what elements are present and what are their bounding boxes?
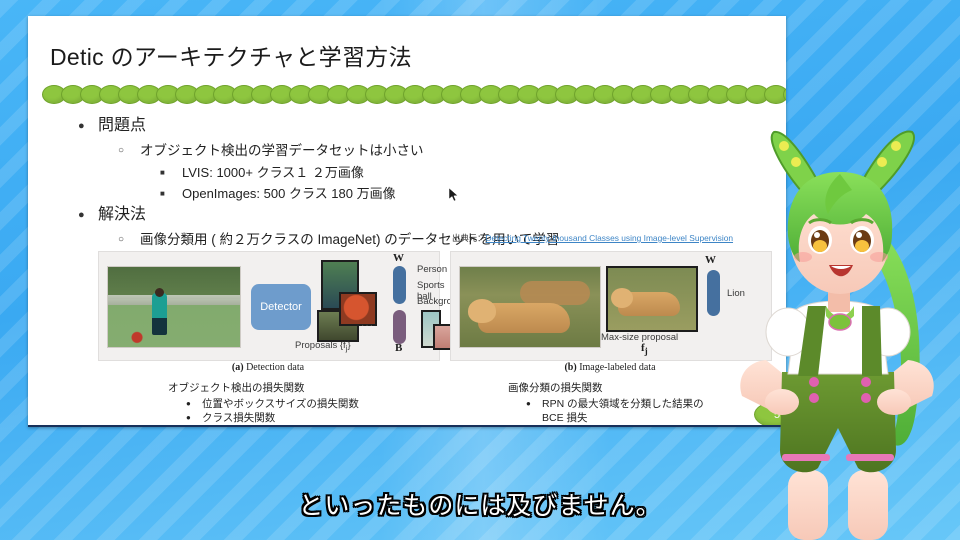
max-size-proposal-label: Max-size proposal (601, 332, 678, 343)
mouse-cursor-icon (449, 188, 459, 202)
loss-notes-detection: オブジェクト検出の損失関数 ● 位置やボックスサイズの損失関数 ● クラス損失関… (168, 381, 359, 427)
fj-subscript: j (645, 346, 648, 356)
character-button-right (861, 377, 871, 387)
figure-panel-image-labeled-data: Detector Max-size proposal fj W Lion (450, 251, 772, 361)
photo-player-body (152, 293, 167, 335)
character-shorts-trim-right (846, 454, 894, 461)
loss-notes-classification: 画像分類の損失関数 ● RPN の最大領域を分類した結果の BCE 損失 (508, 381, 710, 425)
bullet-item-problem: ● 問題点 (78, 116, 768, 136)
bullet-marker: ■ (160, 184, 182, 203)
vtuber-character-avatar (730, 110, 960, 540)
source-link[interactable]: Detecting Twenty-thousand Classes using … (486, 233, 734, 243)
character-button-left-2 (809, 393, 819, 403)
bullet-marker: ● (526, 397, 542, 425)
photo-fence-band (108, 295, 240, 305)
bullet-marker: ● (186, 411, 202, 425)
character-button-left (809, 377, 819, 387)
source-citation: 出典元：Detecting Twenty-thousand Classes us… (452, 232, 733, 244)
figure-caption-a-label: (a) (232, 362, 244, 373)
bullet-item-solution: ● 解決法 (78, 205, 768, 225)
character-blush-right (870, 252, 888, 262)
bullet-item-lvis: ■ LVIS: 1000+ クラス１ ２万画像 (160, 163, 768, 182)
bullet-marker: ■ (160, 163, 182, 182)
loss-item: ● 位置やボックスサイズの損失関数 (186, 397, 359, 411)
class-label-person: Person (417, 264, 447, 275)
weight-vector-w (393, 266, 406, 304)
character-hand-right (877, 389, 911, 415)
character-eye-left-glint (814, 232, 820, 238)
bullet-text: LVIS: 1000+ クラス１ ２万画像 (182, 163, 364, 182)
character-hand-left (765, 389, 799, 415)
crop-lion-head (611, 288, 633, 308)
bullet-marker: ● (186, 397, 202, 411)
ellipsis-dots: ··· (361, 320, 374, 331)
soccer-photo (107, 266, 241, 348)
bullet-text: 解決法 (98, 205, 146, 225)
figure-caption-b: (b) Image-labeled data (450, 362, 770, 373)
bias-vector-b (393, 310, 406, 344)
page-title: Detic のアーキテクチャと学習方法 (50, 38, 412, 72)
loss-item-text: クラス損失関数 (202, 411, 275, 425)
loss-item: ● RPN 損失関数 (186, 425, 359, 427)
photo-lion-head (468, 299, 496, 323)
character-eye-right-highlight (855, 240, 869, 252)
character-eye-right-glint (856, 232, 862, 238)
max-size-proposal-symbol: fj (641, 342, 648, 356)
bullet-text: 問題点 (98, 116, 146, 136)
bullet-marker: ● (78, 116, 98, 136)
photo-player-head (155, 288, 164, 297)
character-shorts-trim-left (782, 454, 830, 461)
bullet-text: OpenImages: 500 クラス 180 万画像 (182, 184, 396, 203)
pea-divider (42, 84, 772, 104)
character-button-right-2 (861, 393, 871, 403)
subtitle-caption: といったものには及びません。 (0, 486, 960, 522)
figure-caption-b-label: (b) (564, 362, 576, 373)
figure-caption-a: (a) Detection data (98, 362, 438, 373)
loss-item-text: RPN 損失関数 (202, 425, 269, 427)
photo-lion-second (520, 281, 590, 305)
detector-box-a: Detector (251, 284, 311, 330)
character-eye-left-highlight (813, 240, 827, 252)
max-size-proposal-crop (606, 266, 698, 332)
proposals-label-close: } (347, 340, 350, 351)
figure-caption-a-text: Detection data (244, 362, 305, 373)
loss-item: ● RPN の最大領域を分類した結果の BCE 損失 (526, 397, 710, 425)
character-blush-left (794, 252, 812, 262)
character-strap-right (862, 306, 882, 376)
proposals-label: Proposals {fj} (295, 340, 351, 353)
figure-panel-detection-data: Detector ··· Proposals {fj} W B Person S… (98, 251, 440, 361)
presentation-slide: Detic のアーキテクチャと学習方法 ● 問題点 ○ オブジェクト検出の学習デ… (28, 16, 786, 427)
figure-caption-b-text: Image-labeled data (577, 362, 656, 373)
bullet-marker: ● (186, 425, 202, 427)
loss-heading-detection: オブジェクト検出の損失関数 (168, 381, 359, 395)
vector-w-label-b: W (705, 254, 716, 266)
loss-item: ● クラス損失関数 (186, 411, 359, 425)
bullet-item-dataset-small: ○ オブジェクト検出の学習データセットは小さい (118, 141, 768, 160)
lion-photo (459, 266, 601, 348)
weight-vector-w-b (707, 270, 720, 316)
loss-item-text: RPN の最大領域を分類した結果の BCE 損失 (542, 397, 710, 425)
bullet-item-openimages: ■ OpenImages: 500 クラス 180 万画像 (160, 184, 768, 203)
bullet-marker: ○ (118, 141, 140, 160)
architecture-figure: 出典元：Detecting Twenty-thousand Classes us… (70, 246, 770, 378)
vector-b-label: B (395, 342, 402, 354)
loss-item-text: 位置やボックスサイズの損失関数 (202, 397, 359, 411)
vector-w-label: W (393, 252, 404, 264)
loss-heading-classification: 画像分類の損失関数 (508, 381, 710, 395)
bullet-text: オブジェクト検出の学習データセットは小さい (140, 141, 424, 160)
proposals-label-text: Proposals {f (295, 340, 346, 351)
character-scarf-knot (829, 314, 851, 330)
source-prefix: 出典元： (452, 233, 486, 243)
bullet-marker: ● (78, 205, 98, 225)
